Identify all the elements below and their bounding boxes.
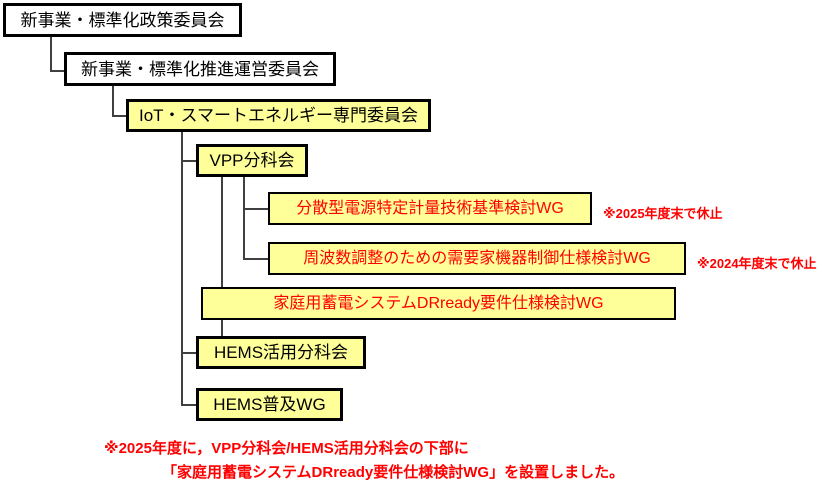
- annotation-wg-metering-suspension: ※2025年度末で休止: [603, 203, 723, 222]
- node-steering-committee-label: 新事業・標準化推進運営委員会: [81, 61, 319, 78]
- node-steering-committee[interactable]: 新事業・標準化推進運営委員会: [64, 52, 336, 86]
- node-wg-drready[interactable]: 家庭用蓄電システムDRready要件仕様検討WG: [201, 287, 676, 320]
- node-hems-subcommittee[interactable]: HEMS活用分科会: [196, 336, 366, 369]
- node-policy-committee[interactable]: 新事業・標準化政策委員会: [3, 3, 242, 37]
- node-hems-wg[interactable]: HEMS普及WG: [196, 388, 343, 421]
- node-vpp-subcommittee[interactable]: VPP分科会: [196, 144, 308, 177]
- footnote-line-1: ※2025年度に，VPP分科会/HEMS活用分科会の下部に: [104, 437, 469, 458]
- node-hems-wg-label: HEMS普及WG: [213, 396, 325, 413]
- footnote-line-2-text: 「家庭用蓄電システムDRready要件仕様検討WG」を設置しました。: [162, 464, 624, 481]
- connector-iot-trunk-vertical: [181, 131, 183, 406]
- connector-vpp-to-wgs-vertical: [243, 177, 245, 260]
- annotation-wg-frequency-suspension: ※2024年度末で休止: [697, 253, 817, 272]
- org-chart-diagram: 新事業・標準化政策委員会 新事業・標準化推進運営委員会 IoT・スマートエネルギ…: [0, 0, 837, 496]
- footnote-line-2: 「家庭用蓄電システムDRready要件仕様検討WG」を設置しました。: [162, 461, 624, 482]
- annotation-wg-frequency-suspension-text: ※2024年度末で休止: [697, 256, 817, 271]
- node-iot-committee[interactable]: IoT・スマートエネルギー専門委員会: [126, 99, 431, 132]
- footnote-line-1-text: ※2025年度に，VPP分科会/HEMS活用分科会の下部に: [104, 440, 469, 457]
- node-wg-drready-label: 家庭用蓄電システムDRready要件仕様検討WG: [273, 296, 603, 312]
- connector-steering-to-iot-vertical: [112, 85, 114, 117]
- node-hems-subcommittee-label: HEMS活用分科会: [214, 344, 348, 361]
- node-wg-frequency-label: 周波数調整のための需要家機器制御仕様検討WG: [303, 251, 651, 267]
- node-wg-frequency[interactable]: 周波数調整のための需要家機器制御仕様検討WG: [268, 242, 686, 275]
- node-wg-metering[interactable]: 分散型電源特定計量技術基準検討WG: [268, 192, 592, 225]
- connector-policy-to-steering-vertical: [50, 36, 52, 72]
- node-vpp-subcommittee-label: VPP分科会: [209, 152, 294, 169]
- annotation-wg-metering-suspension-text: ※2025年度末で休止: [603, 206, 723, 221]
- node-wg-metering-label: 分散型電源特定計量技術基準検討WG: [296, 201, 564, 217]
- node-iot-committee-label: IoT・スマートエネルギー専門委員会: [139, 107, 418, 124]
- connector-vpp-to-metering-horizontal: [243, 208, 269, 210]
- node-policy-committee-label: 新事業・標準化政策委員会: [21, 12, 225, 29]
- connector-vpp-to-frequency-horizontal: [243, 258, 269, 260]
